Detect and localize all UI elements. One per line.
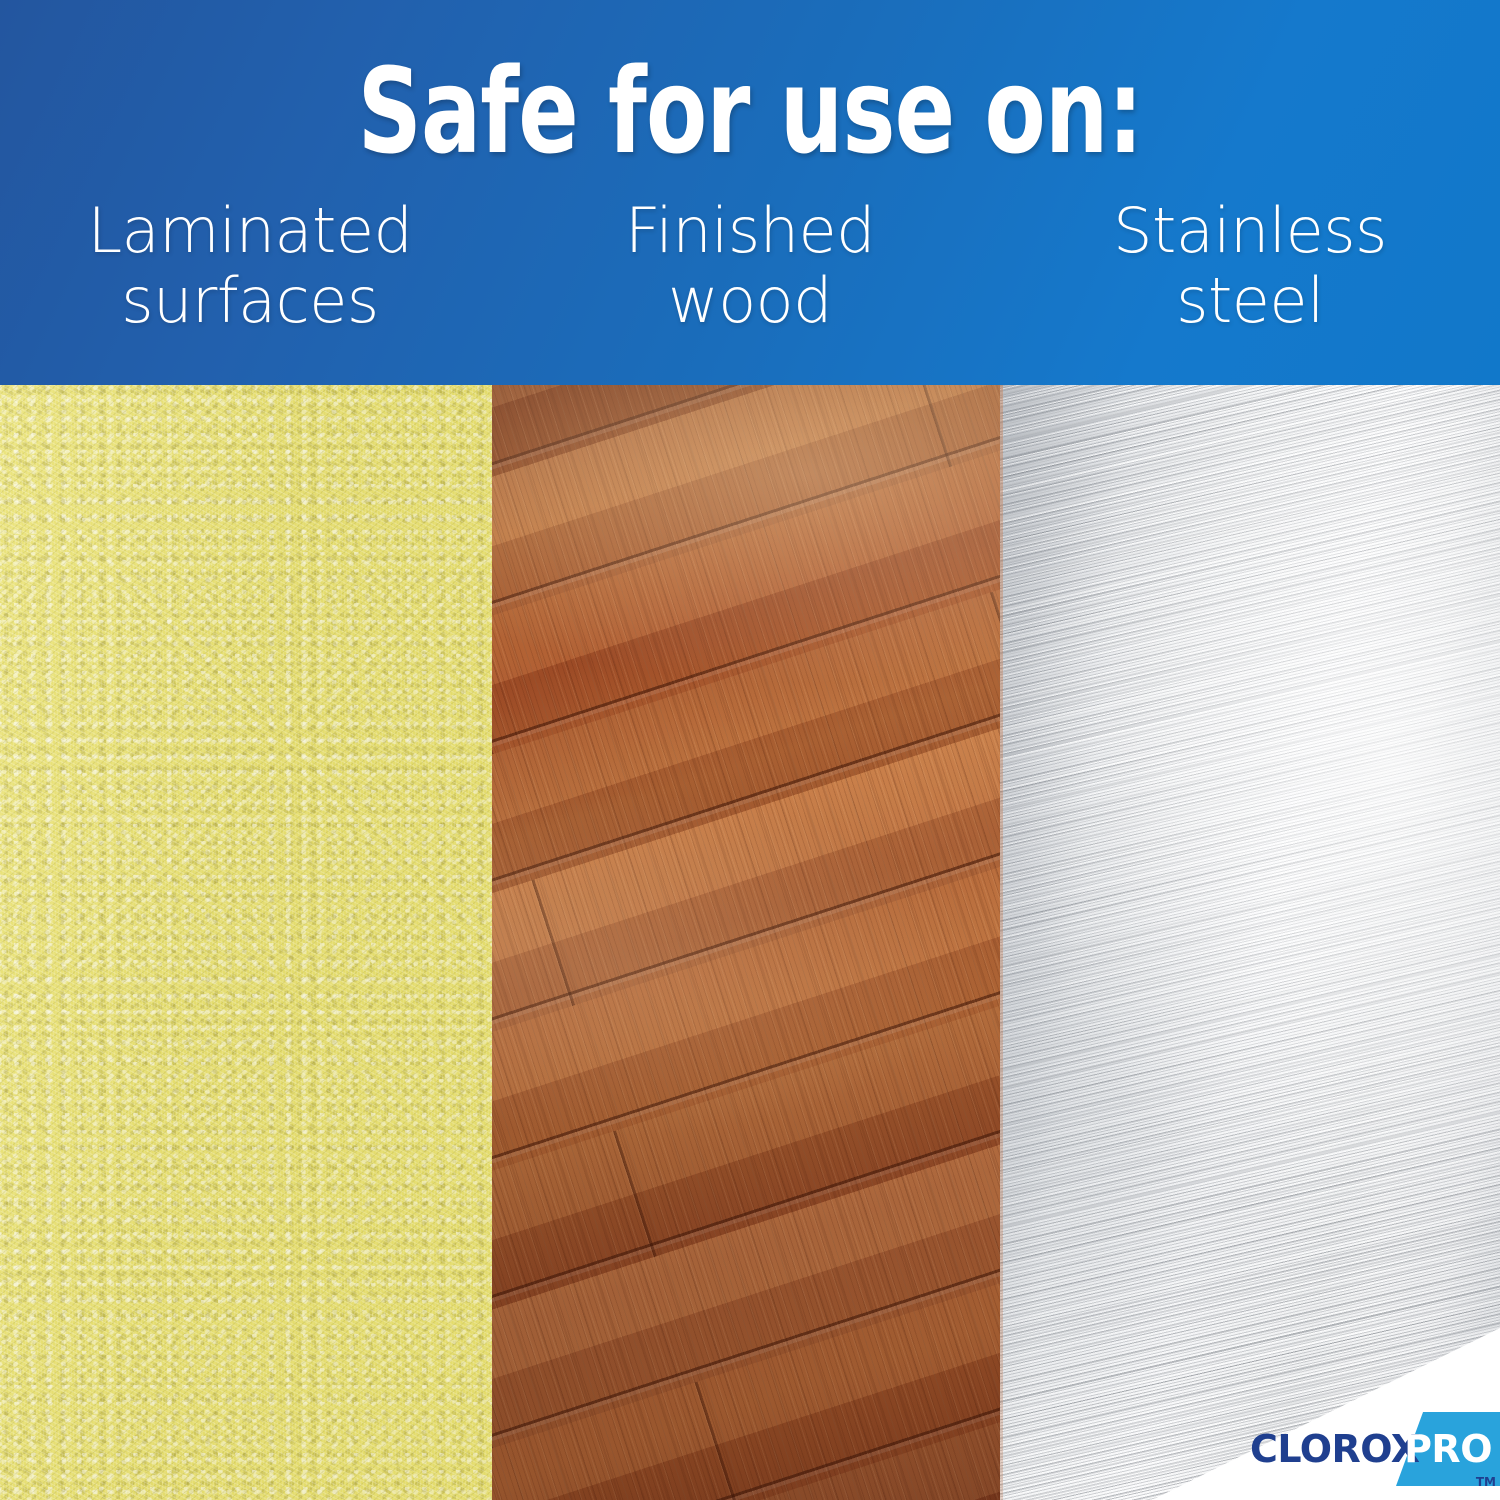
surface-label-row: Laminated surfaces Finished wood Stainle…: [0, 196, 1500, 376]
surface-label-laminated-surfaces: Laminated surfaces: [0, 196, 500, 376]
surface-label-line2: steel: [1000, 266, 1500, 336]
surface-label-line1: Laminated: [0, 196, 500, 266]
surface-label-line1: Finished: [500, 196, 1000, 266]
page-title: Safe for use on:: [120, 52, 1380, 170]
logo-brand-text: CLOROX: [1250, 1430, 1420, 1468]
infographic-canvas: Safe for use on: Laminated surfaces Fini…: [0, 0, 1500, 1500]
surface-label-line2: wood: [500, 266, 1000, 336]
logo-suffix-text: PRO: [1404, 1430, 1492, 1468]
surface-image-laminated-surfaces: [0, 385, 492, 1500]
surface-label-stainless-steel: Stainless steel: [1000, 196, 1500, 376]
logo-trademark-symbol: TM: [1476, 1476, 1496, 1488]
surface-label-finished-wood: Finished wood: [500, 196, 1000, 376]
brand-logo-corner: CLOROX PRO TM: [1152, 1328, 1500, 1500]
steel-left-edge-highlight: [1000, 385, 1003, 1500]
cloroxpro-logo[interactable]: CLOROX PRO TM: [1250, 1412, 1500, 1486]
laminate-shading-overlay: [0, 385, 492, 1500]
wood-sheen-overlay: [492, 385, 1000, 1500]
surface-label-line1: Stainless: [1000, 196, 1500, 266]
surface-label-line2: surfaces: [0, 266, 500, 336]
surface-image-finished-wood: [492, 385, 1000, 1500]
header-banner: Safe for use on: Laminated surfaces Fini…: [0, 0, 1500, 385]
